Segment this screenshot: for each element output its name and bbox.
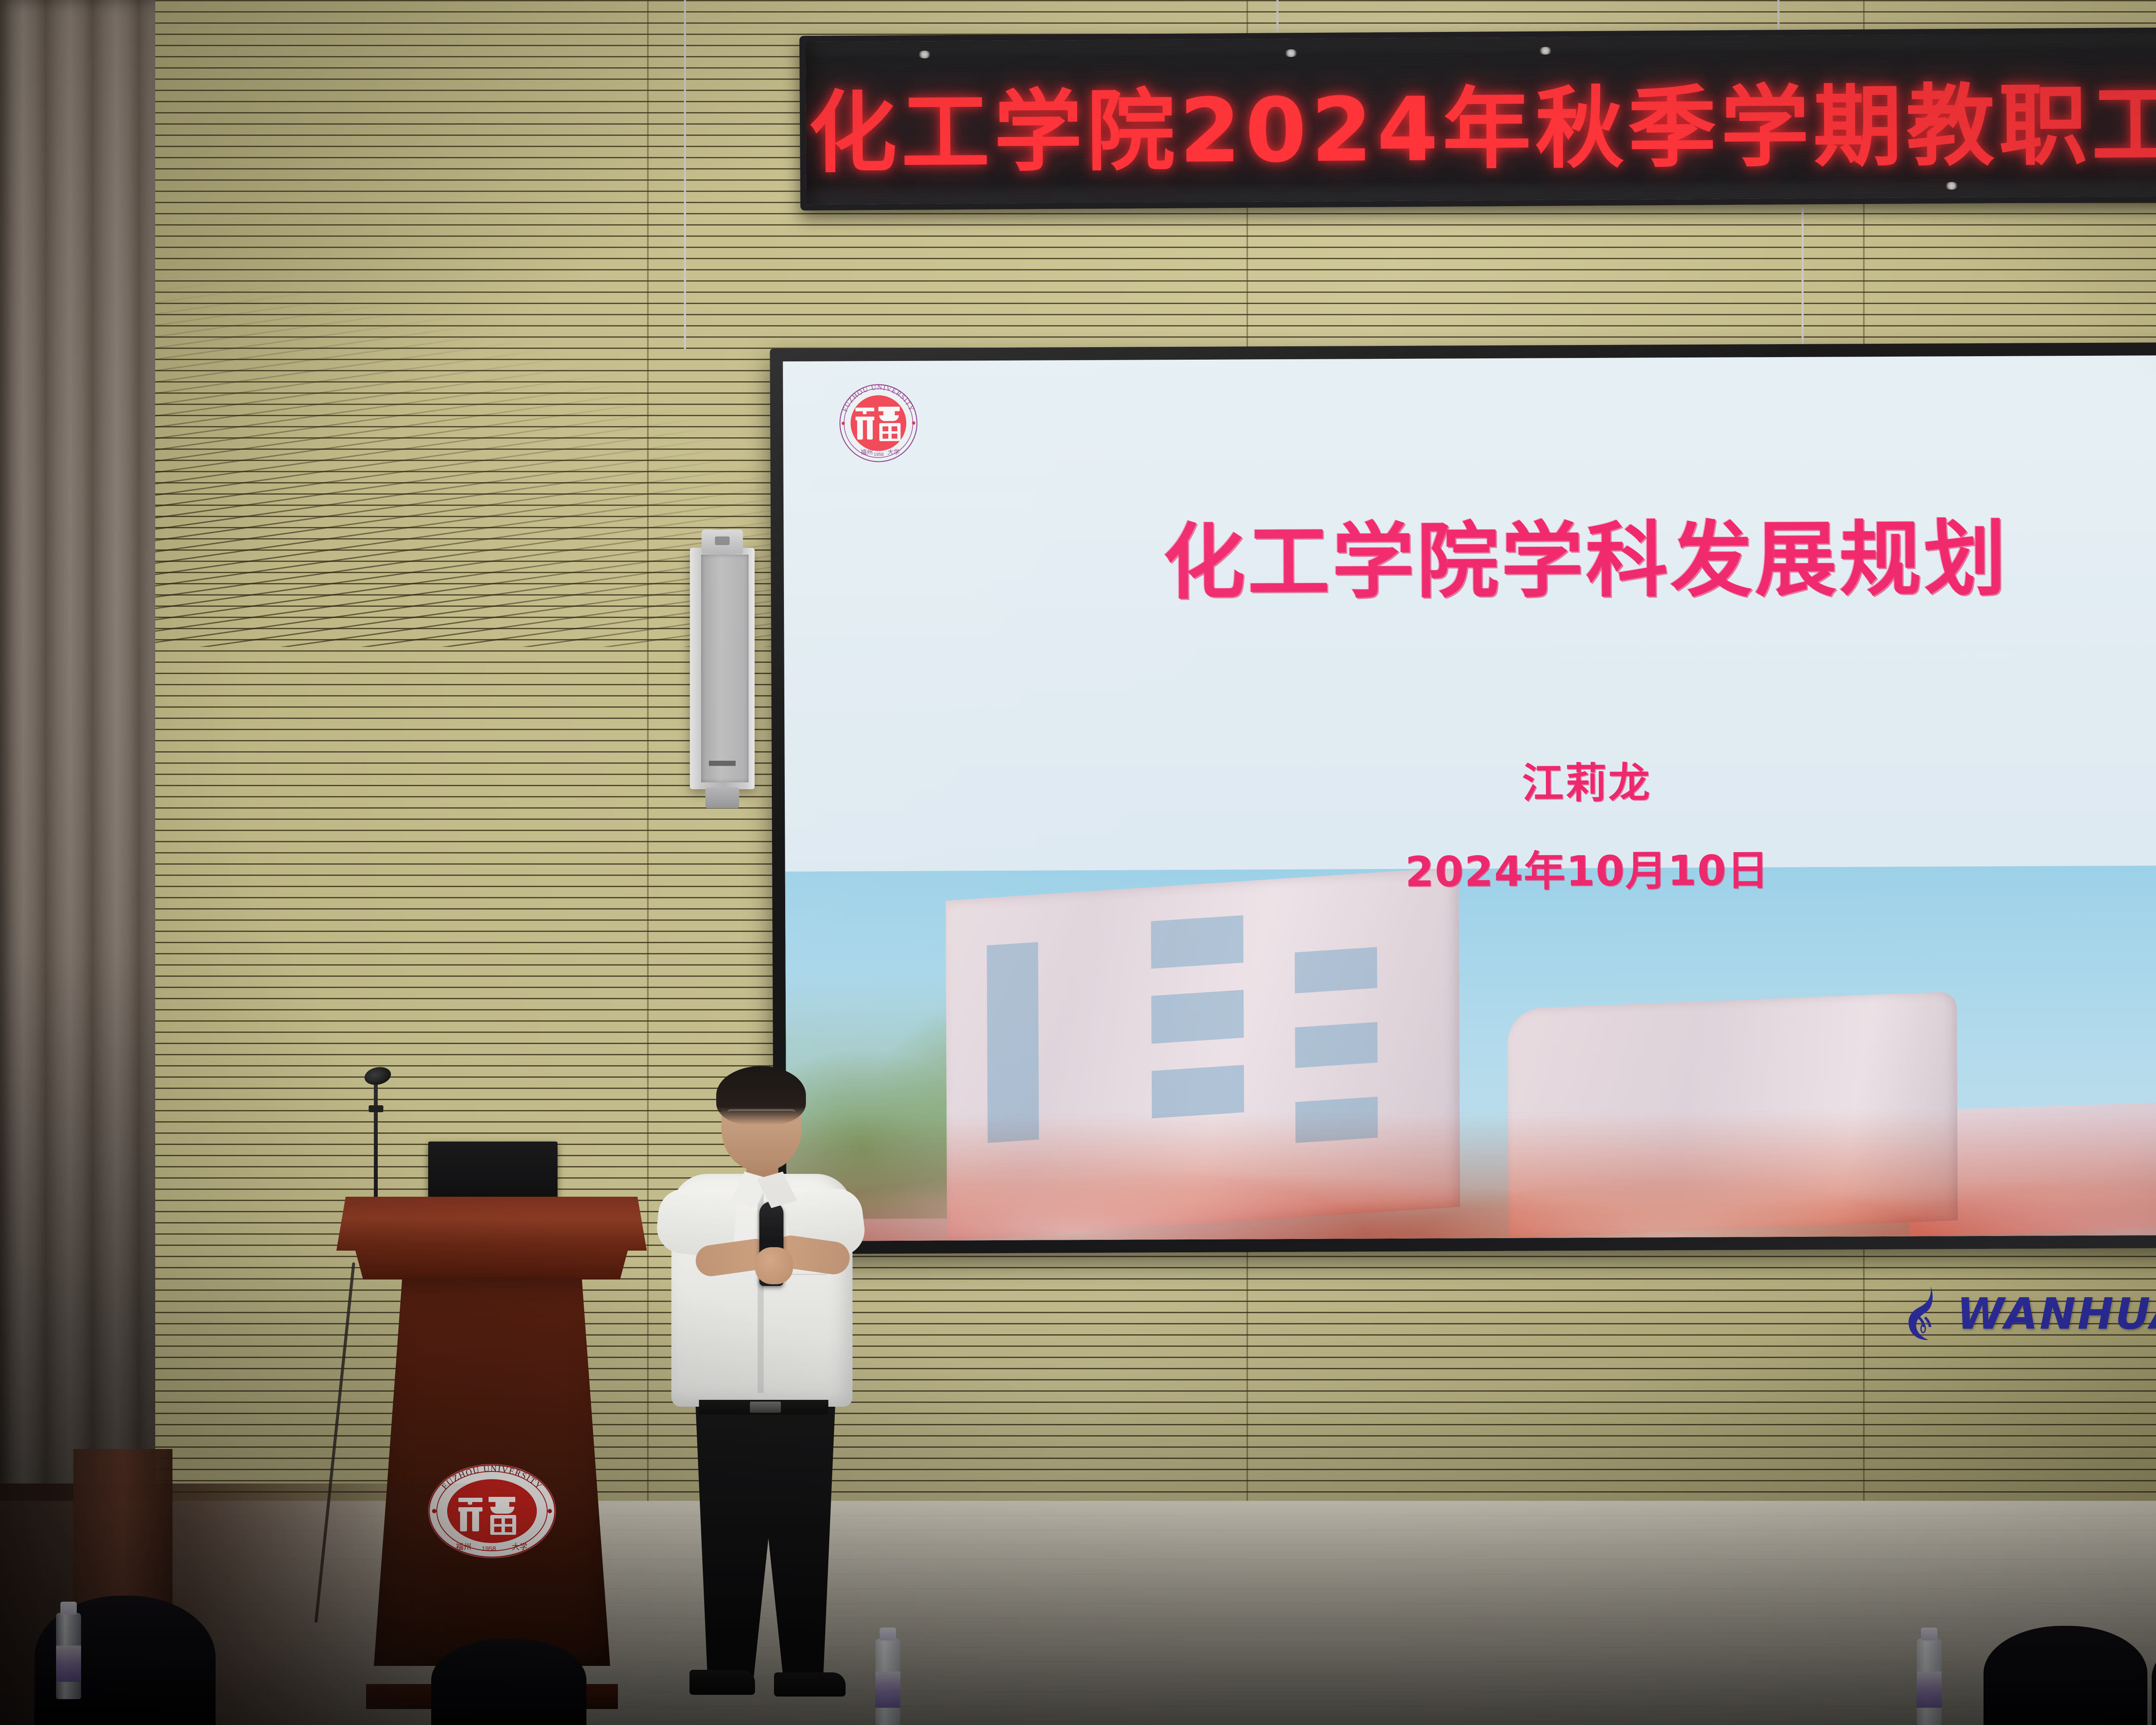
- slide-campus-photo: [785, 865, 2156, 1241]
- wanhua-brand-text: WANHUA: [1957, 1289, 2156, 1339]
- presentation-screen-frame: FUZHOU UNIVERSITY: [770, 342, 2156, 1254]
- podium-top-surface: [336, 1197, 647, 1251]
- slide-presenter-name: 江莉龙: [785, 746, 2156, 813]
- banner-highlight: [1284, 49, 1298, 57]
- mic-clip: [369, 1105, 383, 1112]
- led-banner-text: 化工学院2024年秋季学期教职工大会: [808, 52, 2156, 190]
- hanging-wire: [684, 0, 686, 349]
- glasses-icon: [727, 1109, 796, 1120]
- led-banner: 化工学院2024年秋季学期教职工大会: [799, 26, 2156, 210]
- wanhua-sponsor-sign: WANHUA 捐赠: [1906, 1285, 2156, 1342]
- fuzhou-university-logo: FUZHOU UNIVERSITY: [837, 382, 920, 464]
- belt-buckle: [750, 1402, 781, 1413]
- hanging-wire: [1777, 0, 1780, 34]
- wanhua-flame-icon: [1906, 1286, 1946, 1342]
- slide-title: 化工学院学科发展规划: [783, 491, 2156, 616]
- speaker-bracket: [702, 530, 743, 554]
- wall-speaker-left: [690, 548, 755, 789]
- slide-date: 2024年10月10日: [785, 834, 2156, 901]
- foreground-vignette: [0, 1501, 2156, 1725]
- podium-lip: [349, 1248, 634, 1280]
- presenter-hand: [755, 1247, 793, 1284]
- photo-swirl-graphic: [786, 1086, 2156, 1241]
- hanging-wire: [1802, 207, 1804, 349]
- banner-highlight: [918, 50, 931, 58]
- podium-monitor: [428, 1142, 558, 1200]
- hanging-wire: [1276, 0, 1279, 34]
- banner-highlight: [1945, 182, 1959, 190]
- svg-text:1958: 1958: [874, 452, 884, 457]
- speaker-foot: [705, 787, 739, 808]
- speaker-grille: [701, 555, 749, 782]
- conference-hall-photo: 化工学院2024年秋季学期教职工大会: [0, 0, 2156, 1725]
- svg-text:大学: 大学: [888, 448, 900, 456]
- presentation-slide: FUZHOU UNIVERSITY: [783, 354, 2156, 1241]
- banner-highlight: [1539, 47, 1552, 55]
- svg-text:福州: 福州: [861, 448, 873, 456]
- gooseneck-mic-stand: [374, 1080, 378, 1210]
- speaker-brand-plate: [709, 761, 736, 766]
